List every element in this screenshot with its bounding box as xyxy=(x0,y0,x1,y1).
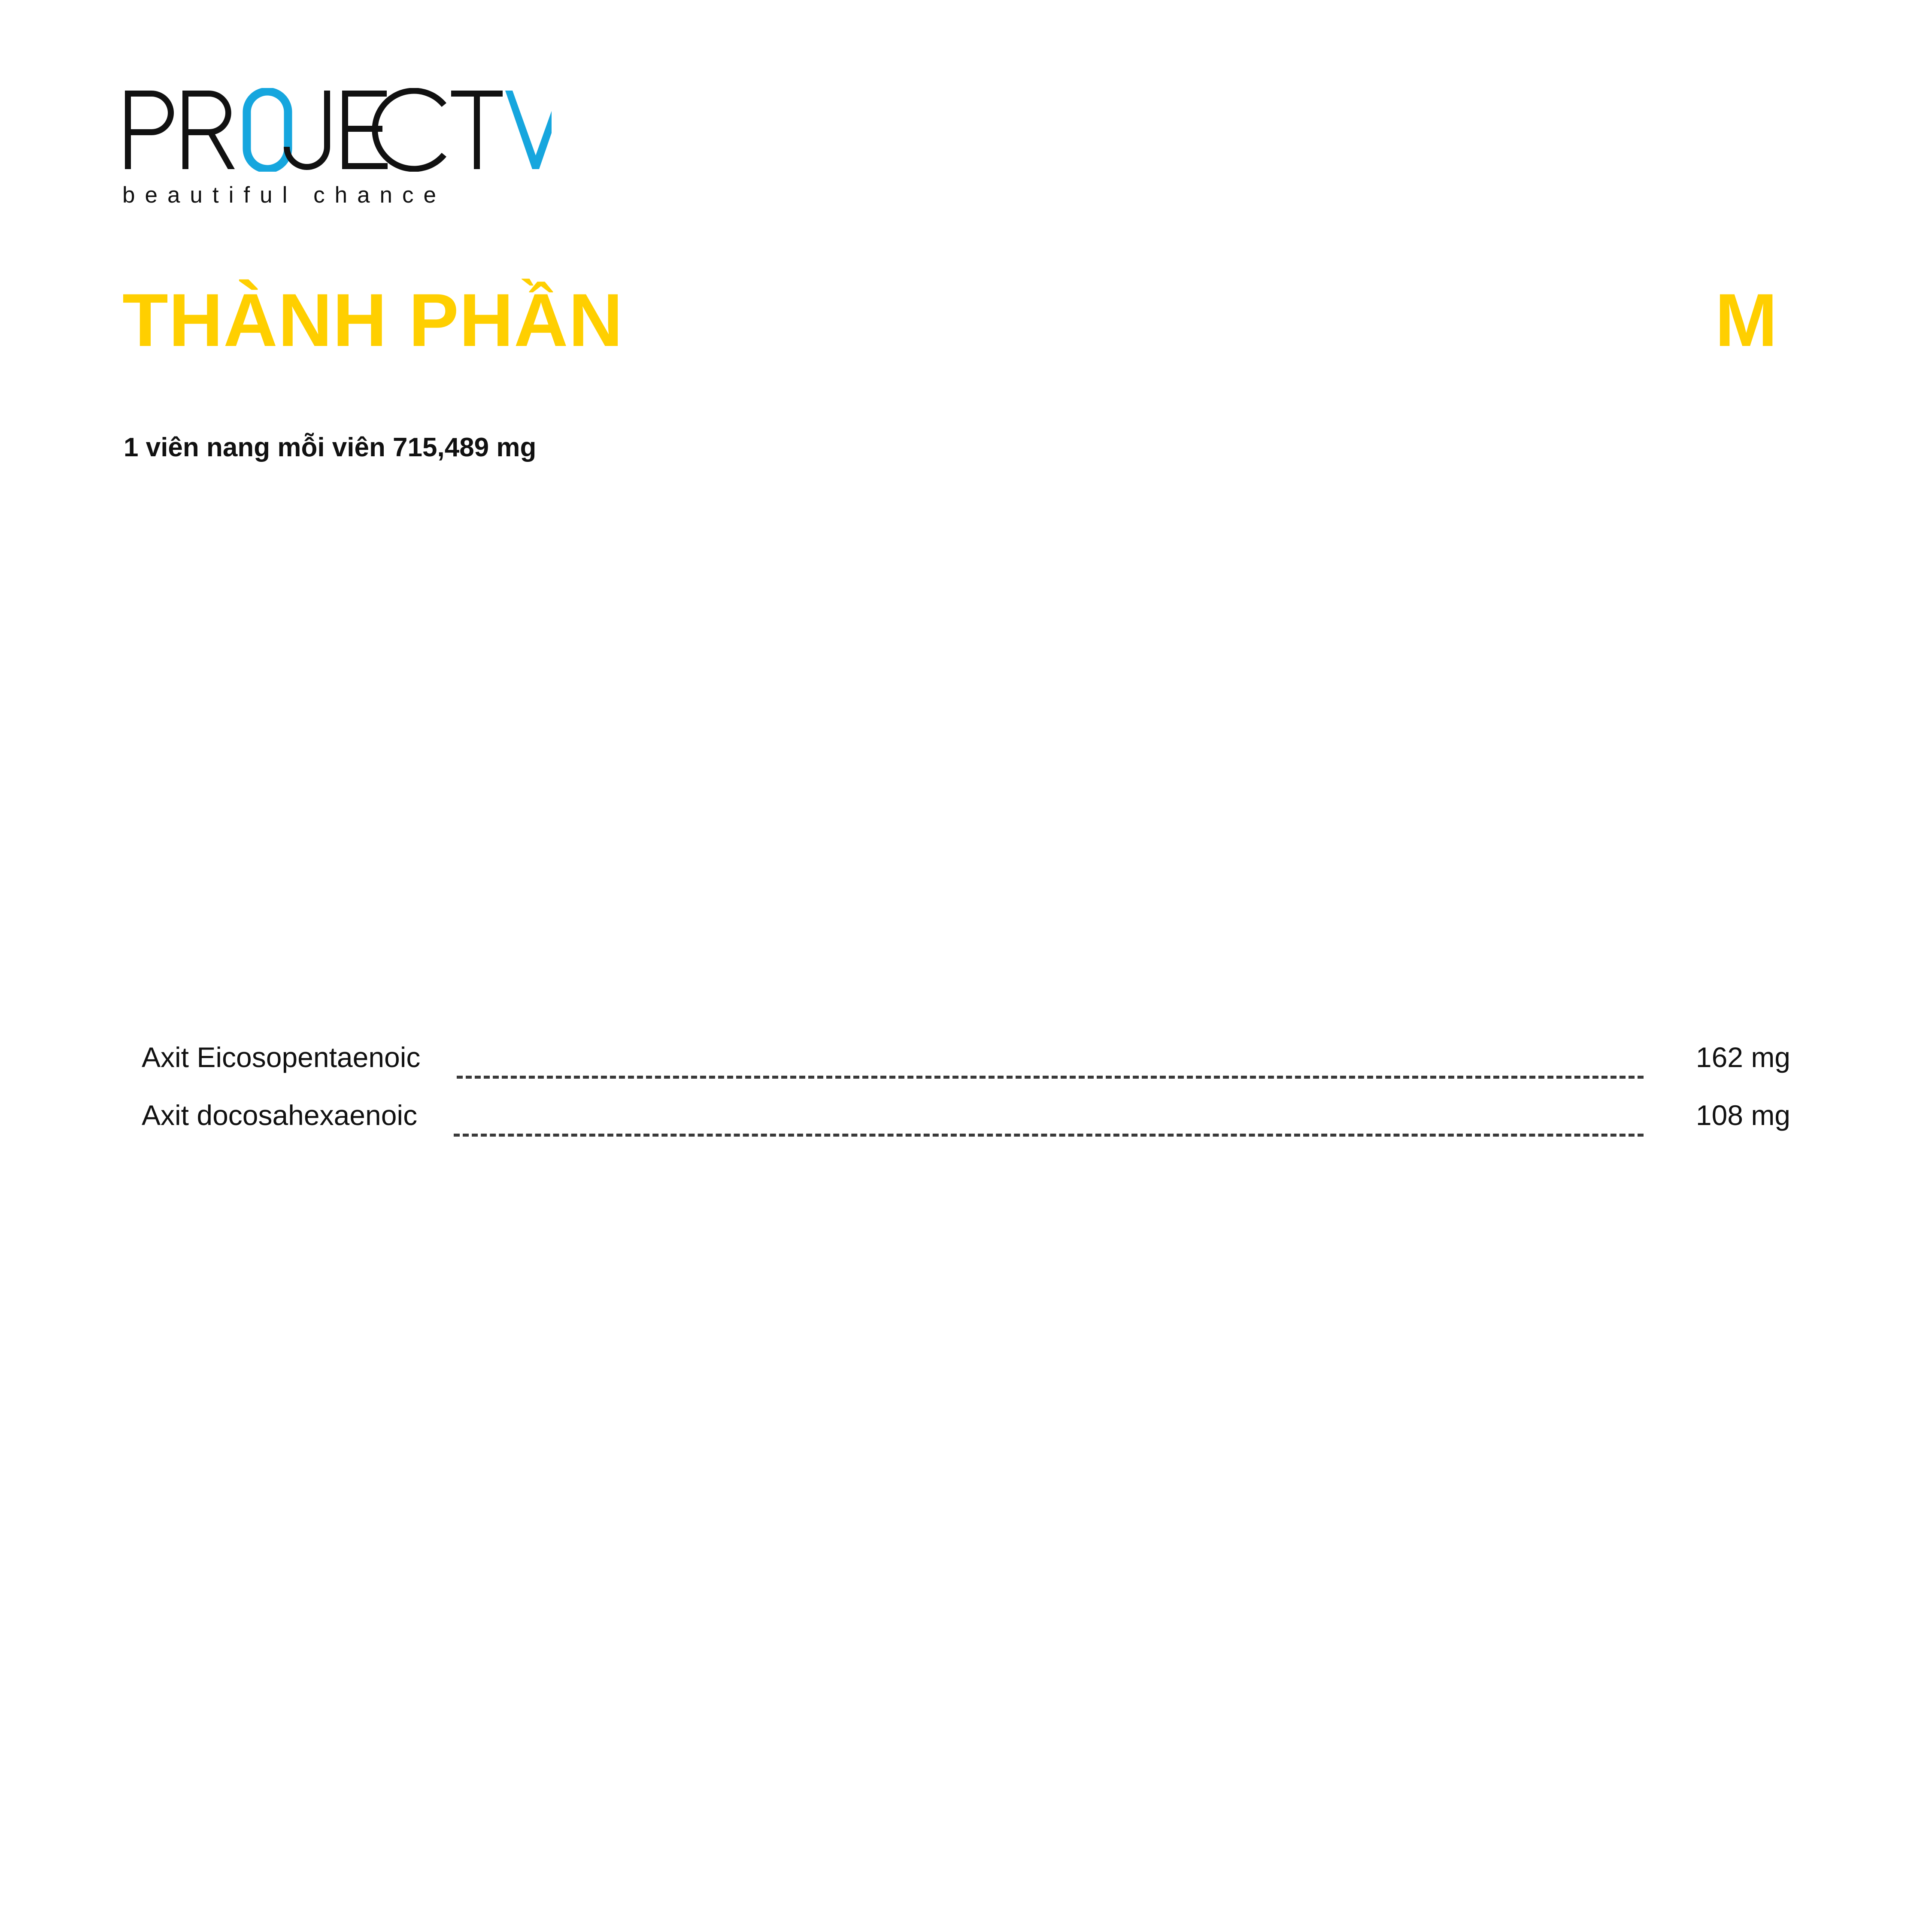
leader-dots xyxy=(454,1134,1644,1137)
ingredient-table: Axit Eicosopentaenoic 162 mg Axit docosa… xyxy=(142,1028,1790,1144)
serving-size-note: 1 viên nang mỗi viên 715,489 mg xyxy=(124,434,536,461)
leader-dots xyxy=(457,1076,1644,1079)
ingredient-amount: 162 mg xyxy=(1662,1043,1790,1071)
logo-wordmark xyxy=(122,88,573,172)
table-row: Axit Eicosopentaenoic 162 mg xyxy=(142,1028,1790,1086)
page-title: THÀNH PHẦN xyxy=(122,281,623,360)
ingredient-name: Axit docosahexaenoic xyxy=(142,1101,417,1129)
table-row: Axit docosahexaenoic 108 mg xyxy=(142,1086,1790,1144)
ingredient-name: Axit Eicosopentaenoic xyxy=(142,1043,420,1071)
ingredient-amount: 108 mg xyxy=(1662,1101,1790,1129)
header-right-label: M xyxy=(1715,281,1777,360)
page-header: THÀNH PHẦN M xyxy=(122,281,1803,360)
logo-tagline: beautiful chance xyxy=(122,184,573,206)
projectv-logotype-icon xyxy=(122,88,552,172)
brand-logo: beautiful chance xyxy=(122,88,573,206)
